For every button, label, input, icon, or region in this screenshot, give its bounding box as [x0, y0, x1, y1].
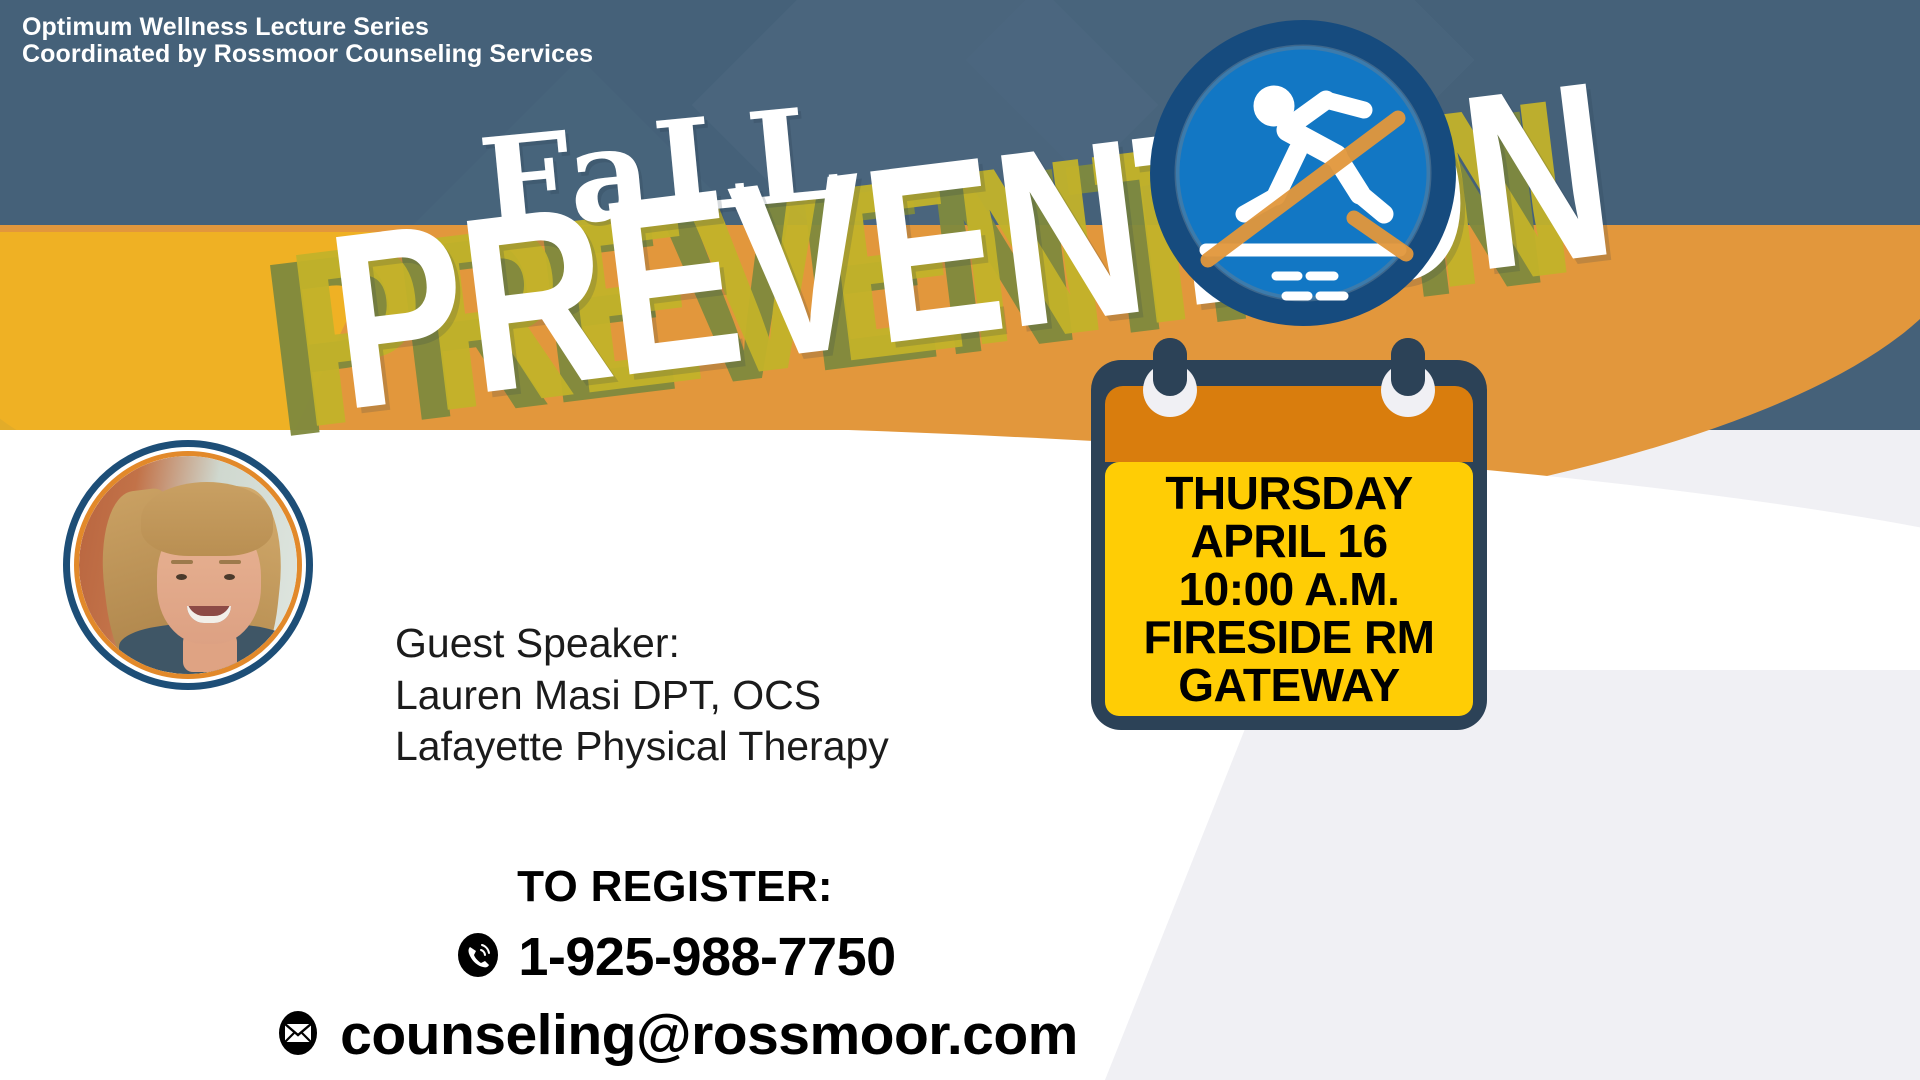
speaker-photo — [79, 456, 297, 674]
register-phone-line[interactable]: 1-925-988-7750 — [0, 926, 1350, 988]
speaker-info: Guest Speaker: Lauren Masi DPT, OCS Lafa… — [395, 618, 889, 773]
photo-hair-top — [141, 482, 273, 556]
header-line-1: Optimum Wellness Lecture Series — [22, 14, 593, 41]
flyer-canvas: Optimum Wellness Lecture Series Coordina… — [0, 0, 1920, 1080]
no-falling-warning-sign — [1148, 18, 1458, 328]
register-phone[interactable]: 1-925-988-7750 — [518, 926, 895, 988]
register-title: TO REGISTER: — [0, 862, 1350, 912]
speaker-label: Guest Speaker: — [395, 618, 889, 670]
calendar-line-3: 10:00 A.M. — [1179, 566, 1400, 612]
calendar-line-4: FIRESIDE RM — [1144, 614, 1435, 660]
phone-icon — [454, 931, 502, 984]
photo-brow-left — [171, 560, 193, 564]
registration-block: TO REGISTER: 1-925-988-7750 — [0, 862, 1350, 1068]
speaker-affiliation: Lafayette Physical Therapy — [395, 721, 889, 773]
register-email-line[interactable]: counseling@rossmoor.com — [0, 1002, 1350, 1068]
photo-eye-left — [176, 574, 187, 580]
photo-brow-right — [219, 560, 241, 564]
avatar-ring-inner — [74, 451, 302, 679]
speaker-avatar — [63, 440, 313, 690]
poster-title: PREVENTION PREVENTION FaLL PREVENTION — [0, 50, 1180, 470]
calendar-line-1: THURSDAY — [1165, 470, 1412, 516]
event-calendar-card: THURSDAY APRIL 16 10:00 A.M. FIRESIDE RM… — [1083, 336, 1495, 748]
calendar-line-5: GATEWAY — [1178, 662, 1399, 708]
envelope-icon — [272, 1007, 324, 1064]
speaker-name: Lauren Masi DPT, OCS — [395, 670, 889, 722]
calendar-line-2: APRIL 16 — [1190, 518, 1387, 564]
register-email[interactable]: counseling@rossmoor.com — [340, 1002, 1078, 1068]
photo-eye-right — [224, 574, 235, 580]
